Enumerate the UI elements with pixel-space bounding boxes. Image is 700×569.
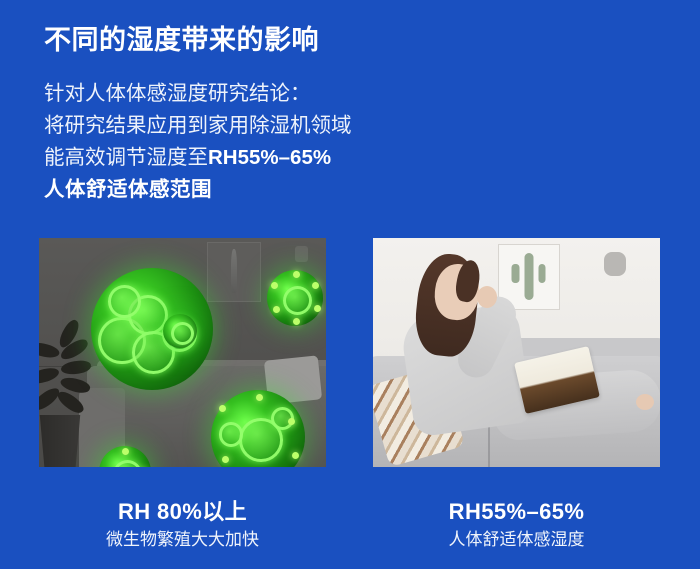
- body-copy-block: 针对人体体感湿度研究结论： 将研究结果应用到家用除湿机领域 能高效调节湿度至RH…: [44, 78, 352, 206]
- body-line-3: 能高效调节湿度至RH55%–65%: [44, 142, 352, 174]
- caption-high-humidity: RH 80%以上 微生物繁殖大大加快: [39, 498, 326, 552]
- wall-switch-icon: [295, 246, 308, 262]
- wall-speaker-icon: [604, 252, 626, 276]
- caption-comfort-humidity: RH55%–65% 人体舒适体感湿度: [373, 498, 660, 552]
- body-line-2: 将研究结果应用到家用除湿机领域: [44, 110, 352, 142]
- cactus-icon: [525, 253, 534, 300]
- caption-subtitle: 微生物繁殖大大加快: [39, 528, 326, 552]
- potted-plant-icon: [39, 336, 105, 467]
- plant-pot: [39, 415, 83, 467]
- caption-subtitle: 人体舒适体感湿度: [373, 528, 660, 552]
- woman-foot: [636, 394, 654, 410]
- wall-art-frame-icon: [207, 242, 261, 302]
- body-line-3-prefix: 能高效调节湿度至: [44, 146, 208, 169]
- body-line-1: 针对人体体感湿度研究结论：: [44, 78, 352, 110]
- microbe-sphere: [163, 314, 197, 348]
- body-line-4: 人体舒适体感范围: [44, 174, 352, 206]
- page-title: 不同的湿度带来的影响: [44, 18, 319, 57]
- woman-hand: [477, 286, 497, 308]
- microbe-sphere: [267, 270, 323, 326]
- humidity-comparison-poster: 不同的湿度带来的影响 针对人体体感湿度研究结论： 将研究结果应用到家用除湿机领域…: [0, 0, 700, 569]
- dark-living-room-illustration: [39, 238, 326, 467]
- body-line-3-value: RH55%–65%: [208, 146, 331, 169]
- caption-title: RH 80%以上: [39, 498, 326, 525]
- photo-comfort-humidity: [373, 238, 660, 467]
- photo-high-humidity: [39, 238, 326, 467]
- bright-living-room-illustration: [373, 238, 660, 467]
- caption-title: RH55%–65%: [373, 498, 660, 525]
